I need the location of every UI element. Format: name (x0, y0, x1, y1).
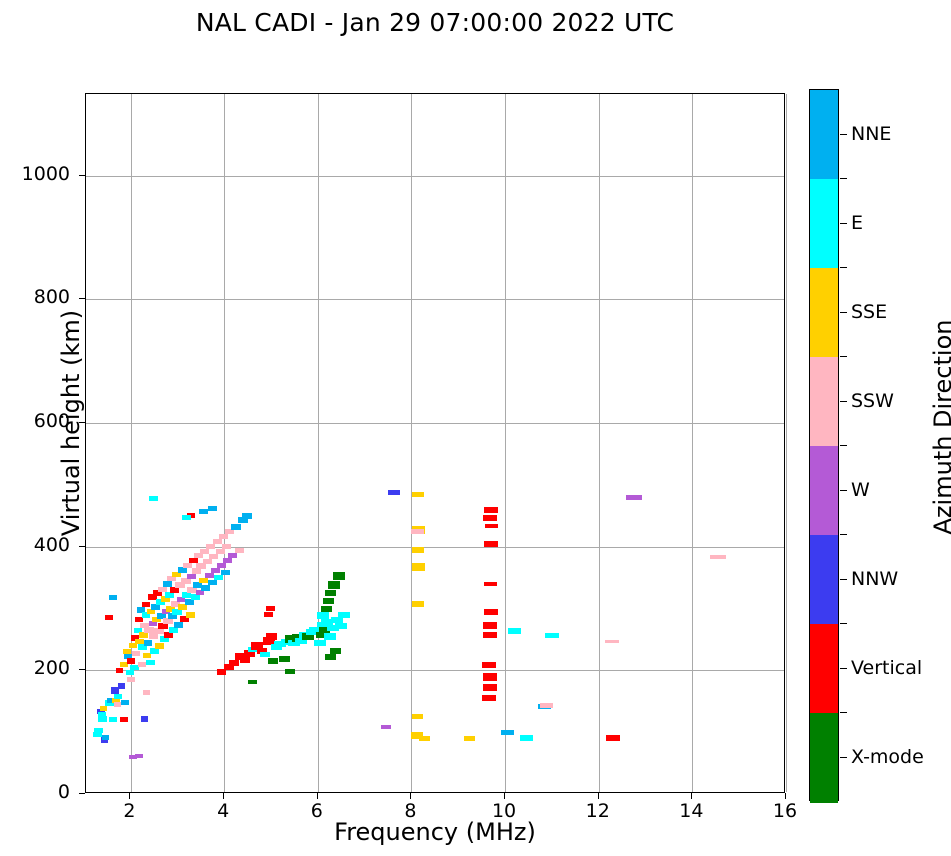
colorbar-label-ssw: SSW (851, 390, 894, 412)
data-point (606, 735, 620, 741)
data-point (200, 549, 209, 554)
colorbar-segment-nne (810, 90, 838, 180)
data-point (141, 716, 148, 722)
data-point (484, 609, 498, 615)
data-point (605, 640, 619, 643)
data-points-layer (86, 94, 784, 792)
data-point (225, 529, 234, 534)
data-point (191, 594, 200, 600)
x-tick-mark (317, 793, 318, 799)
data-point (484, 582, 497, 586)
y-tick-mark (79, 669, 85, 670)
colorbar-tick (840, 312, 847, 313)
data-point (187, 574, 196, 579)
y-tick-mark (79, 793, 85, 794)
colorbar-tick (840, 134, 847, 135)
data-point (482, 695, 496, 701)
data-point (483, 622, 497, 629)
data-point (264, 612, 273, 617)
data-point (182, 515, 191, 520)
data-point (483, 684, 497, 691)
data-point (545, 633, 559, 638)
colorbar-boundary-tick (840, 712, 847, 713)
data-point (325, 654, 336, 660)
colorbar-tick (840, 223, 847, 224)
data-point (138, 662, 146, 667)
y-tick-label: 1000 (10, 163, 70, 185)
y-tick-label: 0 (10, 781, 70, 803)
data-point (167, 576, 176, 581)
data-point (143, 653, 151, 658)
colorbar-segment-vertical (810, 624, 838, 714)
data-point (314, 640, 326, 646)
data-point (221, 570, 230, 575)
data-point (199, 509, 208, 514)
data-point (482, 662, 496, 668)
data-point (100, 706, 107, 711)
data-point (464, 736, 475, 741)
colorbar-label-w: W (851, 479, 870, 501)
colorbar-boundary-tick (840, 267, 847, 268)
data-point (223, 558, 232, 563)
data-point (183, 563, 192, 568)
data-point (228, 553, 237, 558)
data-point (94, 728, 103, 733)
data-point (114, 694, 122, 699)
data-point (411, 529, 424, 534)
data-point (143, 690, 150, 695)
data-point (208, 506, 217, 511)
plot-area (85, 93, 785, 793)
data-point (102, 735, 109, 740)
data-point (520, 735, 533, 741)
data-point (483, 515, 497, 521)
data-point (174, 622, 183, 628)
data-point (222, 544, 231, 549)
data-point (285, 669, 295, 674)
data-point (211, 568, 220, 573)
y-axis-label: Virtual height (km) (57, 223, 85, 623)
data-point (508, 628, 521, 634)
colorbar-tick (840, 757, 847, 758)
colorbar-segment-ssw (810, 357, 838, 447)
data-point (126, 670, 134, 675)
data-point (483, 632, 497, 638)
data-point (333, 572, 345, 580)
data-point (142, 602, 150, 607)
data-point (240, 657, 250, 663)
colorbar-boundary-tick (840, 623, 847, 624)
data-point (146, 660, 155, 665)
data-point (98, 716, 107, 722)
data-point (201, 585, 210, 591)
colorbar-label-nnw: NNW (851, 568, 898, 590)
data-point (194, 553, 203, 558)
data-point (127, 658, 135, 664)
data-point (325, 590, 336, 596)
data-point (484, 541, 498, 547)
colorbar-segment-sse (810, 268, 838, 358)
x-tick-mark (410, 793, 411, 799)
data-point (321, 606, 332, 612)
colorbar-segment-nnw (810, 535, 838, 625)
data-point (149, 621, 157, 626)
data-point (242, 513, 252, 519)
colorbar (809, 89, 839, 801)
data-point (626, 495, 642, 500)
data-point (540, 703, 553, 708)
colorbar-tick (840, 579, 847, 580)
data-point (412, 563, 425, 571)
ionogram-figure: NAL CADI - Jan 29 07:00:00 2022 UTC 2468… (0, 0, 951, 856)
data-point (196, 590, 204, 595)
data-point (248, 680, 257, 684)
data-point (266, 633, 277, 640)
data-point (127, 677, 135, 682)
data-point (388, 490, 400, 495)
x-tick-mark (504, 793, 505, 799)
data-point (186, 612, 195, 618)
gridline-vertical (786, 94, 787, 792)
data-point (135, 754, 143, 758)
x-tick-mark (598, 793, 599, 799)
data-point (501, 730, 514, 735)
data-point (323, 598, 334, 604)
data-point (338, 612, 350, 618)
data-point (330, 648, 341, 654)
data-point (149, 496, 158, 501)
data-point (484, 507, 498, 513)
colorbar-segment-x-mode (810, 713, 838, 803)
data-point (209, 554, 218, 559)
data-point (229, 660, 239, 666)
data-point (235, 548, 244, 553)
x-tick-mark (691, 793, 692, 799)
x-axis-label: Frequency (MHz) (85, 818, 785, 846)
colorbar-boundary-tick (840, 356, 847, 357)
data-point (203, 559, 212, 564)
data-point (109, 717, 117, 722)
data-point (483, 673, 497, 681)
colorbar-boundary-tick (840, 445, 847, 446)
data-point (205, 573, 214, 578)
data-point (196, 563, 206, 569)
y-tick-label: 200 (10, 657, 70, 679)
data-point (266, 606, 275, 611)
data-point (324, 633, 336, 640)
data-point (213, 539, 222, 544)
colorbar-label-x-mode: X-mode (851, 746, 924, 768)
y-tick-mark (79, 175, 85, 176)
data-point (335, 623, 347, 629)
colorbar-label-vertical: Vertical (851, 657, 922, 679)
data-point (189, 558, 198, 563)
colorbar-segment-w (810, 446, 838, 536)
data-point (199, 578, 208, 583)
data-point (109, 595, 117, 600)
data-point (118, 683, 125, 689)
data-point (105, 615, 113, 620)
x-tick-mark (785, 793, 786, 799)
colorbar-label-nne: NNE (851, 123, 891, 145)
data-point (412, 601, 424, 607)
data-point (268, 658, 278, 664)
data-point (178, 567, 187, 573)
data-point (710, 555, 726, 559)
colorbar-tick (840, 668, 847, 669)
data-point (163, 581, 172, 587)
data-point (485, 524, 498, 528)
data-point (206, 544, 215, 549)
data-point (419, 736, 430, 741)
data-point (120, 717, 128, 722)
colorbar-title: Azimuth Direction (929, 262, 951, 592)
colorbar-label-sse: SSE (851, 301, 887, 323)
data-point (121, 700, 129, 705)
figure-title: NAL CADI - Jan 29 07:00:00 2022 UTC (0, 8, 870, 37)
data-point (144, 640, 152, 646)
data-point (214, 575, 223, 580)
colorbar-boundary-tick (840, 534, 847, 535)
data-point (216, 549, 225, 554)
data-point (328, 581, 340, 589)
colorbar-label-e: E (851, 212, 863, 234)
data-point (116, 668, 123, 673)
data-point (219, 534, 228, 539)
data-point (114, 702, 121, 707)
data-point (381, 725, 391, 729)
data-point (154, 628, 164, 634)
data-point (231, 524, 241, 530)
colorbar-boundary-tick (840, 178, 847, 179)
data-point (260, 652, 270, 657)
colorbar-tick (840, 401, 847, 402)
data-point (132, 651, 140, 656)
data-point (412, 714, 423, 719)
colorbar-tick (840, 490, 847, 491)
data-point (279, 656, 290, 662)
data-point (217, 563, 226, 568)
data-point (155, 643, 164, 649)
x-tick-mark (223, 793, 224, 799)
data-point (208, 580, 217, 585)
x-tick-mark (129, 793, 130, 799)
data-point (412, 547, 424, 553)
data-point (412, 492, 424, 497)
colorbar-segment-e (810, 179, 838, 269)
